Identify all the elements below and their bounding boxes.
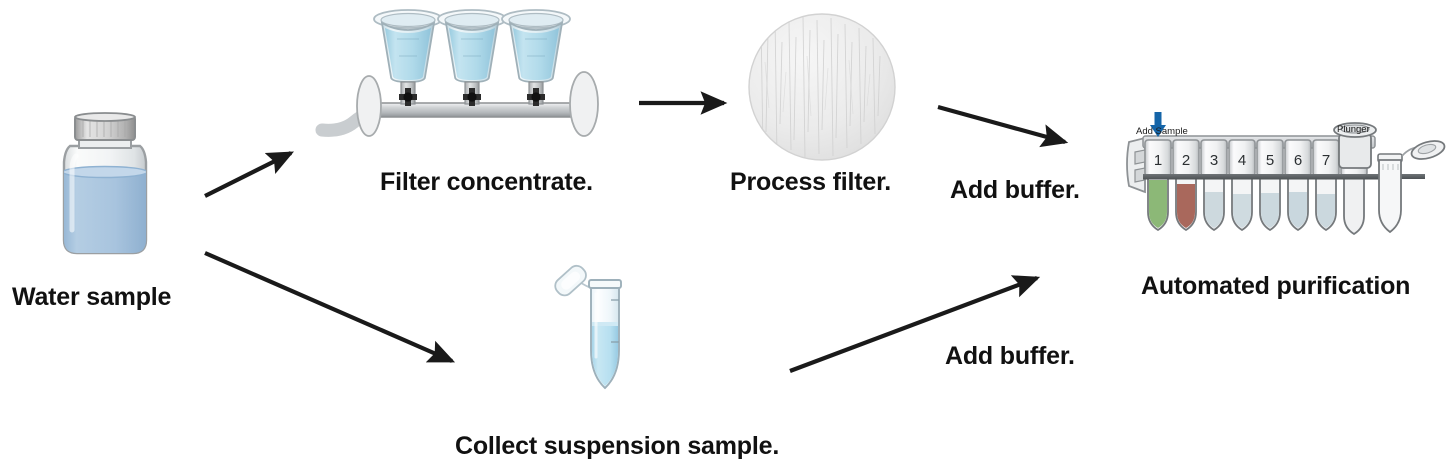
well-number: 7 <box>1322 152 1330 169</box>
tube-lid <box>552 263 589 299</box>
manifold-cap-left <box>357 76 381 136</box>
well-number: 2 <box>1182 152 1190 169</box>
well-number: 1 <box>1154 152 1162 169</box>
funnel-assembly-1 <box>374 10 442 106</box>
water-sample-bottle <box>50 110 160 265</box>
cartridge-tubes <box>1148 176 1364 234</box>
label-process-filter: Process filter. <box>730 168 891 197</box>
label-filter-concentrate: Filter concentrate. <box>380 168 593 197</box>
label-automated-purification: Automated purification <box>1141 272 1410 301</box>
workflow-diagram: Water sample <box>0 0 1448 469</box>
label-add-buffer-top: Add buffer. <box>950 176 1080 205</box>
filter-disc <box>747 12 897 162</box>
label-plunger: Plunger <box>1337 124 1370 135</box>
well-number: 4 <box>1238 152 1246 169</box>
manifold-cap-right <box>570 72 598 136</box>
label-add-buffer-bottom: Add buffer. <box>945 342 1075 371</box>
purification-cartridge: 1 2 3 4 5 6 7 8 <box>1125 120 1445 250</box>
well-number: 5 <box>1266 152 1274 169</box>
label-water-sample: Water sample <box>12 283 171 312</box>
well-number: 3 <box>1210 152 1218 169</box>
label-collect-suspension: Collect suspension sample. <box>455 432 779 461</box>
filtration-manifold <box>320 6 610 154</box>
label-add-sample: Add Sample <box>1136 126 1188 137</box>
arrow-bottle-to-tube <box>205 253 452 361</box>
cartridge-rail <box>1143 174 1387 180</box>
funnel-assembly-3 <box>502 10 570 106</box>
funnel-assembly-2 <box>438 10 506 106</box>
arrow-bottle-to-filter <box>205 153 291 196</box>
arrow-disc-to-cartridge <box>938 107 1065 142</box>
suspension-tube <box>545 262 645 392</box>
well-number: 6 <box>1294 152 1302 169</box>
elution-tube <box>1378 138 1447 232</box>
